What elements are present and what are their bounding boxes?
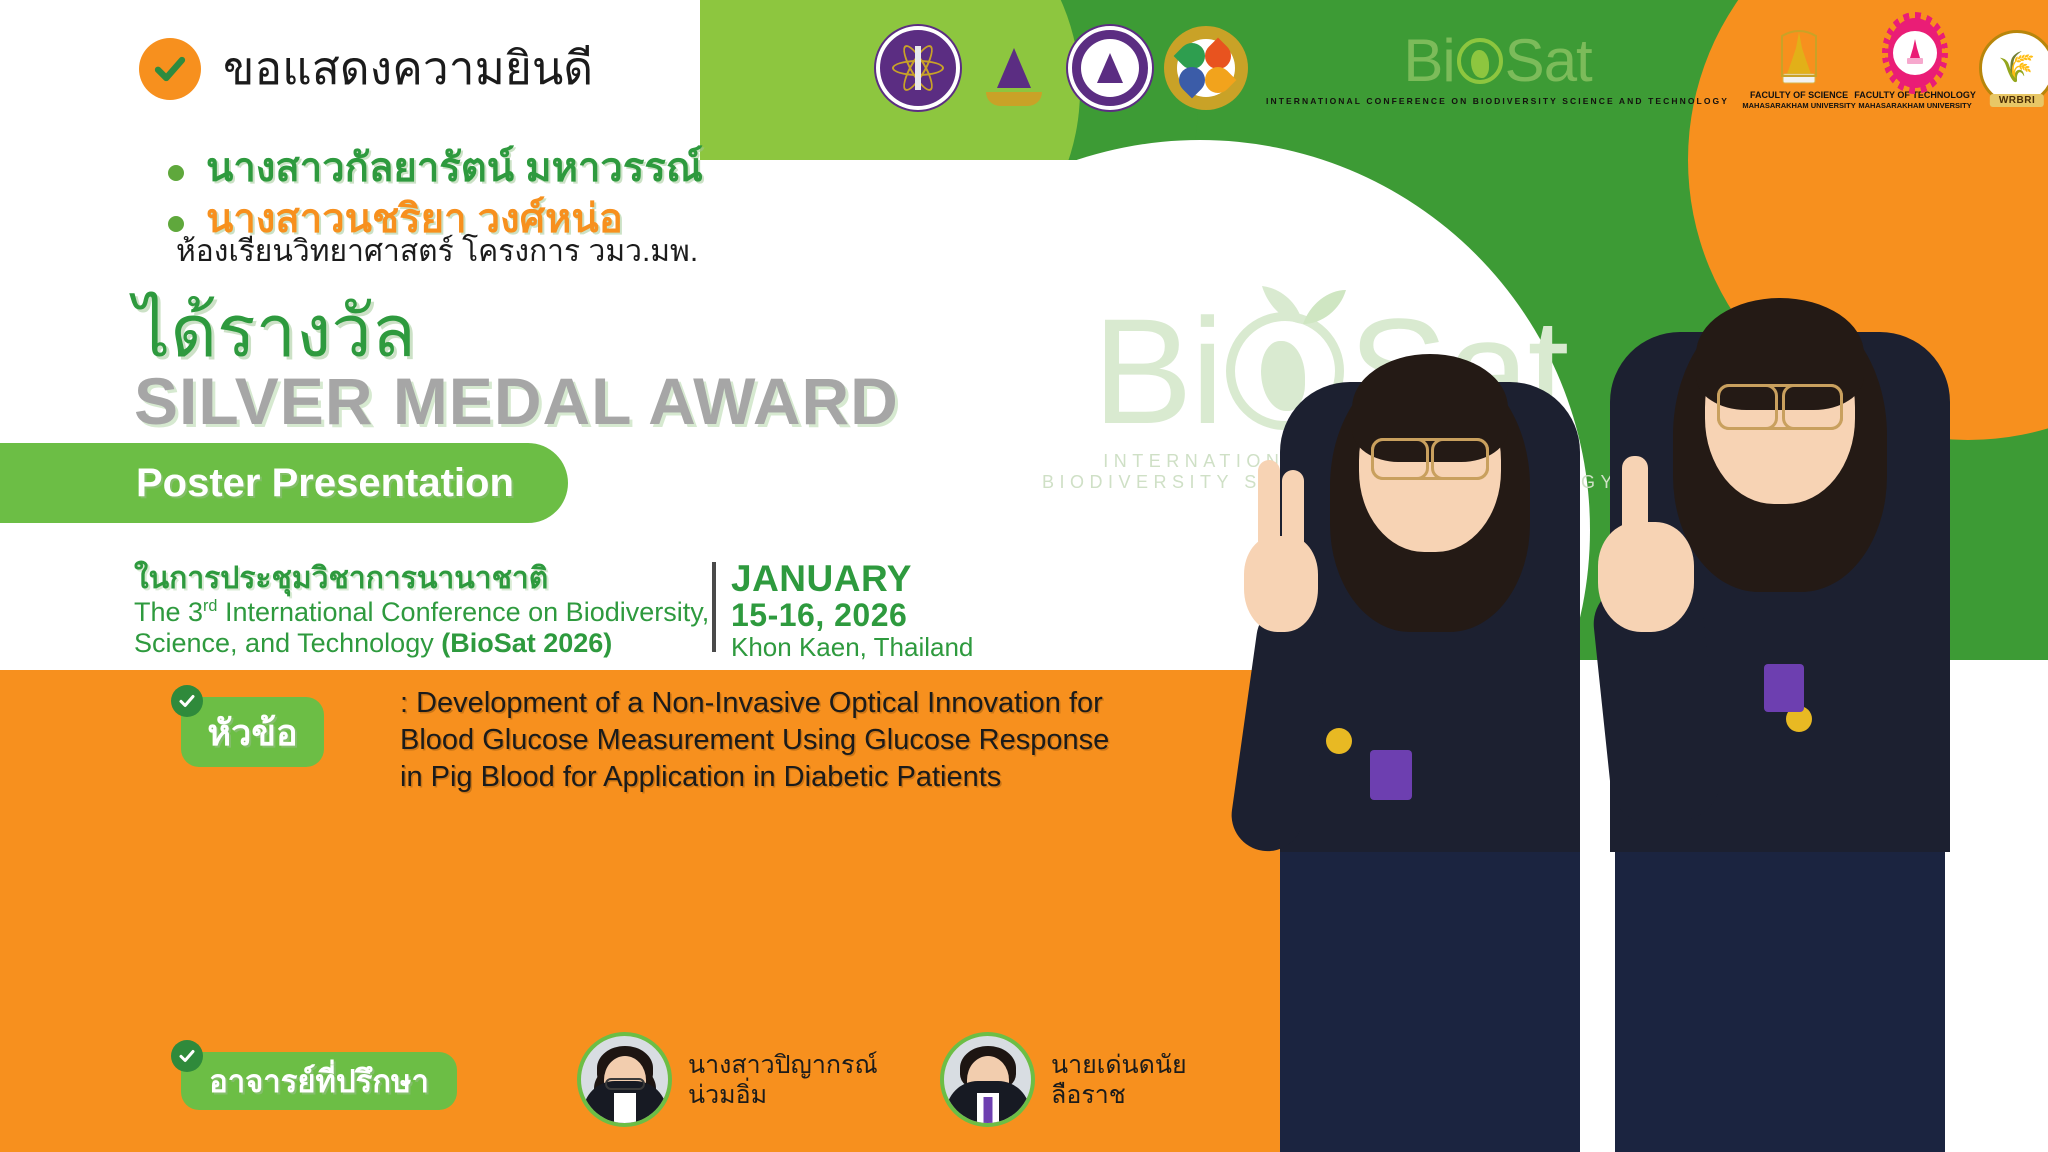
awardee-row: นางสาวกัลยารัตน์ มหาวรรณ์	[168, 145, 703, 192]
biosat-tagline: INTERNATIONAL CONFERENCE ON BIODIVERSITY…	[1266, 96, 1729, 106]
flower-icon	[1179, 41, 1233, 95]
gear-icon	[1888, 18, 1942, 88]
conference-english-line-1: The 3rd International Conference on Biod…	[134, 597, 709, 629]
conference-location: Khon Kaen, Thailand	[731, 633, 973, 663]
conference-date-block: JANUARY 15-16, 2026 Khon Kaen, Thailand	[731, 560, 973, 663]
faculty-of-science-line1: FACULTY OF SCIENCE	[1750, 91, 1848, 101]
presentation-category-label: Poster Presentation	[136, 461, 514, 506]
presentation-category-pill: Poster Presentation	[0, 443, 568, 523]
congratulations-poster: Bi S at INTERNATIONAL CONFERENCE ON BIOD…	[0, 0, 2048, 1152]
wrbri-label: WRBRI	[1990, 94, 2044, 107]
grass-icon: 🌾	[1998, 53, 2035, 83]
advisor-name: นายเด่นดนัย ลือราช	[1051, 1050, 1187, 1110]
faculty-of-technology-logo: FACULTY OF TECHNOLOGY MAHASARAKHAM UNIVE…	[1863, 26, 1967, 110]
topic-text: : Development of a Non-Invasive Optical …	[400, 685, 1260, 796]
vmw-program-seal	[1164, 26, 1248, 110]
topic-line-2: Blood Glucose Measurement Using Glucose …	[400, 722, 1260, 759]
congratulations-header: ขอแสดงความยินดี	[139, 32, 593, 105]
advisor-name-line-1: นายเด่นดนัย	[1051, 1050, 1187, 1080]
advisor-photo-male	[940, 1032, 1035, 1127]
biosat-text-sat: Sat	[1505, 31, 1592, 91]
congratulations-text: ขอแสดงความยินดี	[223, 32, 593, 105]
award-thai-label: ได้รางวัล	[134, 296, 416, 368]
students-photo	[1230, 190, 2048, 1152]
pagoda-icon	[997, 48, 1031, 88]
conference-title-cont: Science, and Technology	[134, 628, 441, 658]
awardee-name-1: นางสาวกัลยารัตน์ มหาวรรณ์	[206, 145, 703, 192]
faculty-of-science-logo: FACULTY OF SCIENCE MAHASARAKHAM UNIVERSI…	[1747, 26, 1851, 110]
advisor-item: นายเด่นดนัย ลือราช	[940, 1032, 1187, 1127]
faculty-of-science-line2: MAHASARAKHAM UNIVERSITY	[1742, 101, 1855, 110]
conference-ordinal-suffix: rd	[203, 597, 217, 615]
award-english-label: SILVER MEDAL AWARD	[134, 368, 899, 434]
advisor-tag: อาจารย์ที่ปรึกษา	[181, 1052, 457, 1110]
demonstration-school-seal	[1068, 26, 1152, 110]
conference-days: 15-16, 2026	[731, 598, 973, 633]
conference-title-rest: International Conference on Biodiversity…	[217, 597, 709, 627]
conference-acronym: (BioSat 2026)	[441, 628, 612, 658]
conference-thai-line: ในการประชุมวิชาการนานาชาติ	[134, 562, 709, 597]
globe-icon	[1457, 38, 1503, 84]
advisor-name-line-1: นางสาวปิญากรณ์	[688, 1050, 878, 1080]
conference-english-line-2: Science, and Technology (BioSat 2026)	[134, 628, 709, 660]
conference-info: ในการประชุมวิชาการนานาชาติ The 3rd Inter…	[134, 562, 709, 660]
conference-divider	[712, 562, 716, 652]
advisor-name-line-2: น่วมอิ่ม	[688, 1080, 878, 1110]
atom-icon	[892, 42, 944, 94]
ministry-of-higher-education-seal	[876, 26, 960, 110]
partner-logos: BioSat Bi Sat INTERNATIONAL CONFERENCE O…	[876, 14, 2048, 122]
pagoda-icon	[1779, 30, 1819, 88]
pagoda-icon	[1904, 38, 1926, 68]
topic-tag: หัวข้อ	[181, 697, 324, 767]
check-circle-icon	[139, 38, 201, 100]
advisor-tag-label: อาจารย์ที่ปรึกษา	[209, 1056, 429, 1106]
biosat-logo: BioSat Bi Sat INTERNATIONAL CONFERENCE O…	[1266, 31, 1729, 106]
advisor-photo-female	[577, 1032, 672, 1127]
student-right	[1550, 272, 2010, 1152]
check-circle-icon	[171, 1040, 203, 1072]
conference-ordinal-prefix: The 3	[134, 597, 203, 627]
conference-month: JANUARY	[731, 560, 973, 598]
advisor-name-line-2: ลือราช	[1051, 1080, 1187, 1110]
biosat-text-bi: Bi	[1403, 31, 1454, 91]
pagoda-icon	[1097, 53, 1123, 83]
topic-line-1: : Development of a Non-Invasive Optical …	[400, 685, 1260, 722]
advisor-name: นางสาวปิญากรณ์ น่วมอิ่ม	[688, 1050, 878, 1110]
wrbri-logo: 🌾 WRBRI	[1979, 30, 2048, 106]
faculty-of-technology-line2: MAHASARAKHAM UNIVERSITY	[1858, 101, 1971, 110]
topic-line-3: in Pig Blood for Application in Diabetic…	[400, 759, 1260, 796]
advisor-item: นางสาวปิญากรณ์ น่วมอิ่ม	[577, 1032, 878, 1127]
topic-tag-label: หัวข้อ	[207, 704, 297, 761]
check-circle-icon	[171, 685, 203, 717]
bullet-icon	[168, 165, 184, 181]
school-program-label: ห้องเรียนวิทยาศาสตร์ โครงการ วมว.มพ.	[176, 228, 698, 275]
university-of-phayao-seal	[972, 26, 1056, 110]
